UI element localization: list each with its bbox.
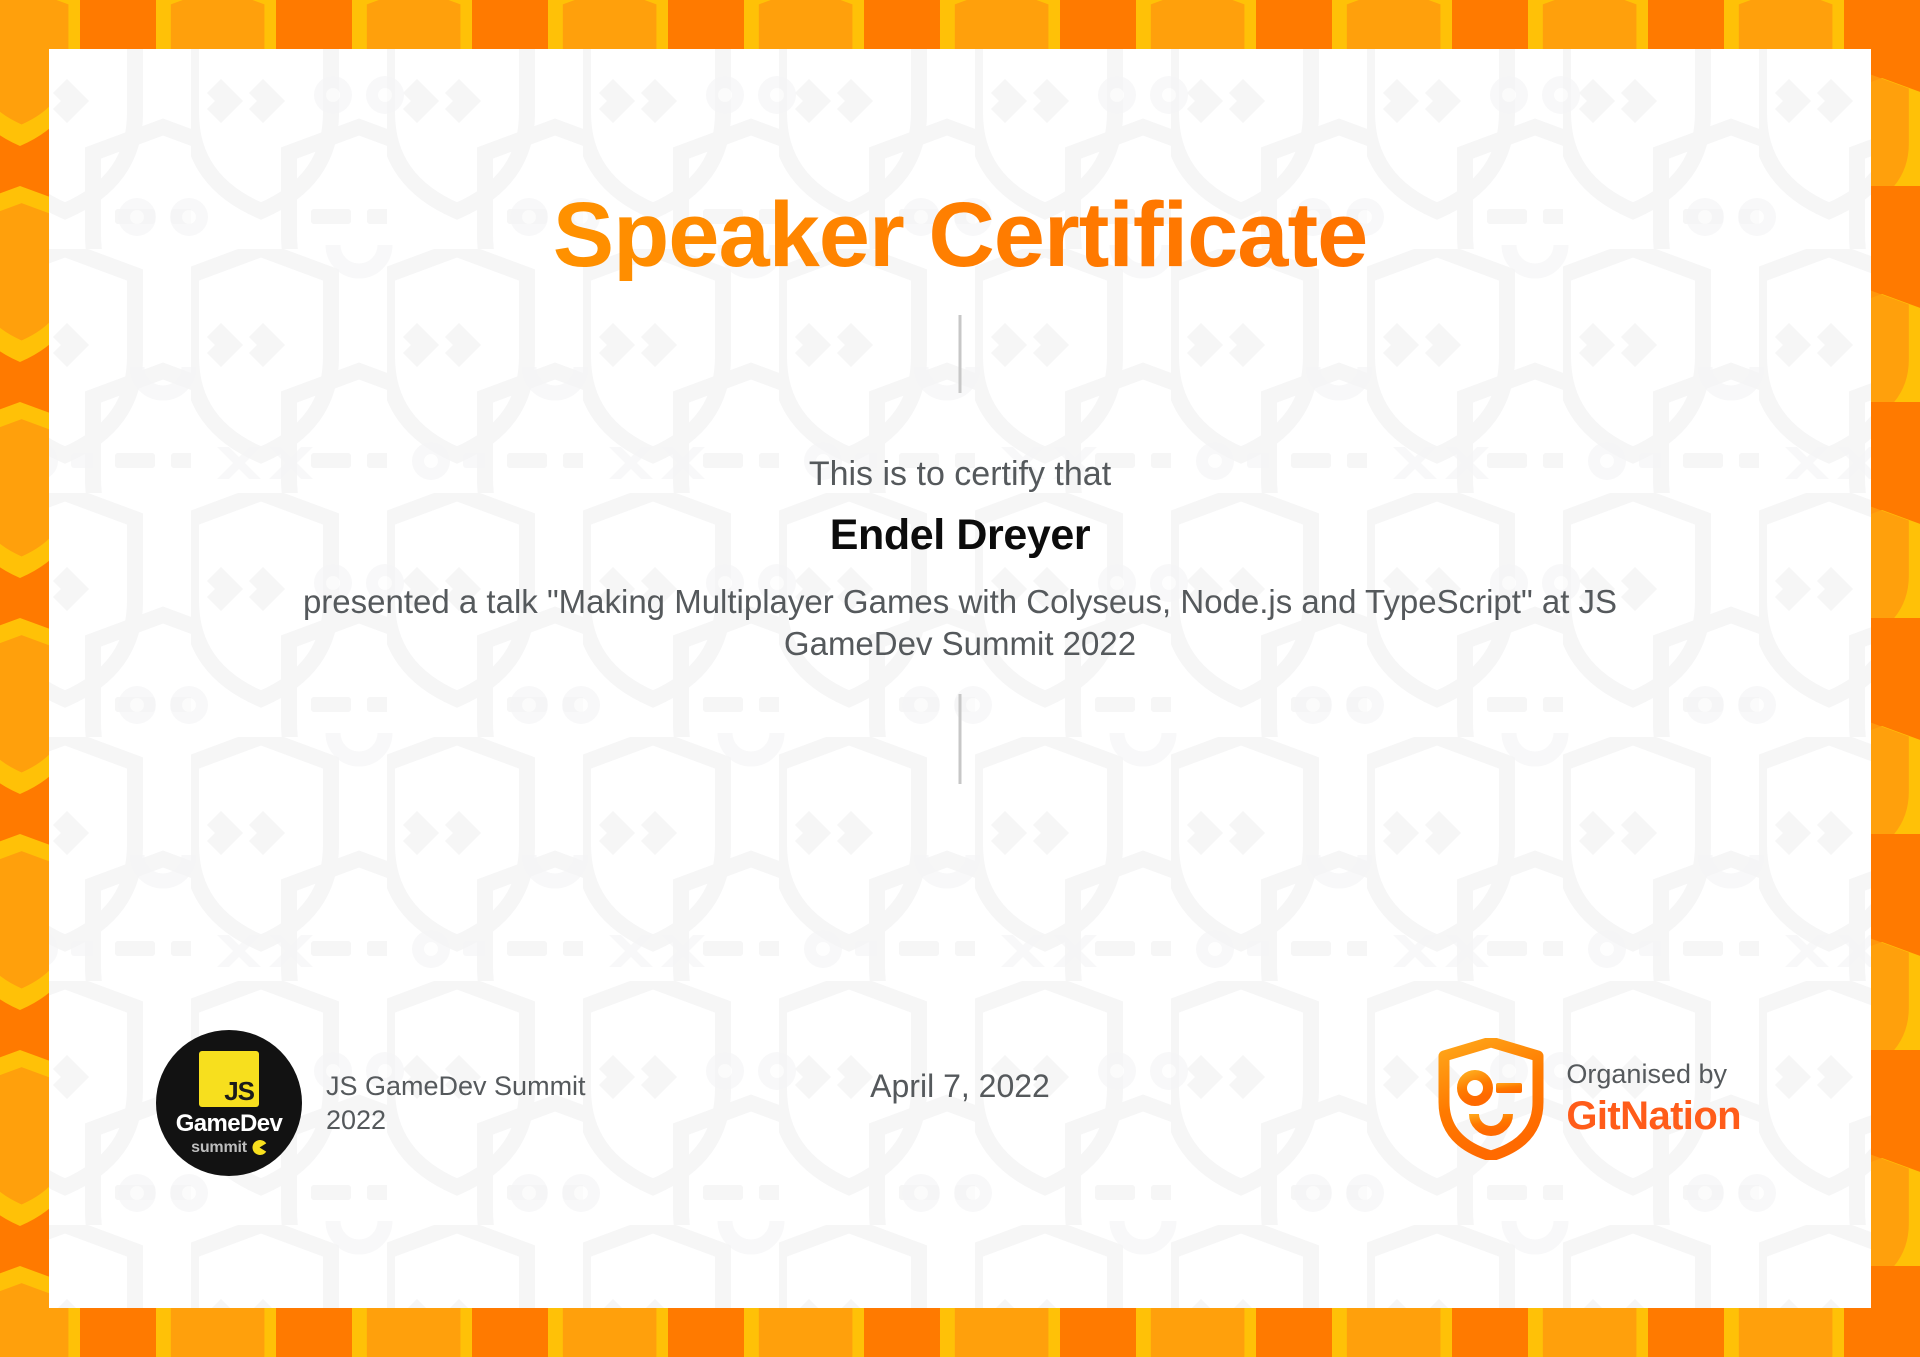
certificate-card: Speaker Certificate This is to certify t… (49, 49, 1871, 1308)
certificate-frame: Speaker Certificate This is to certify t… (0, 0, 1920, 1357)
talk-description: presented a talk "Making Multiplayer Gam… (239, 581, 1681, 665)
recipient-name: Endel Dreyer (49, 511, 1871, 560)
organiser-name: GitNation (1566, 1093, 1741, 1139)
organiser-block: Organised by GitNation (1438, 1038, 1741, 1160)
gitnation-shield-wink-face-icon (1438, 1038, 1544, 1160)
organised-by-label: Organised by (1566, 1059, 1741, 1090)
pacman-icon (252, 1140, 267, 1155)
divider-bottom (959, 694, 962, 784)
card-content: Speaker Certificate This is to certify t… (49, 49, 1871, 1308)
certify-line: This is to certify that (49, 455, 1871, 494)
certificate-footer: JS GameDev summit JS GameDev Summit 2022 (49, 1030, 1871, 1160)
page-title: Speaker Certificate (49, 189, 1871, 281)
organiser-text: Organised by GitNation (1566, 1059, 1741, 1138)
gamedev-wordmark: GameDev (176, 1112, 283, 1136)
divider-top (959, 315, 962, 393)
summit-row: summit (191, 1140, 267, 1156)
summit-wordmark: summit (191, 1140, 247, 1156)
